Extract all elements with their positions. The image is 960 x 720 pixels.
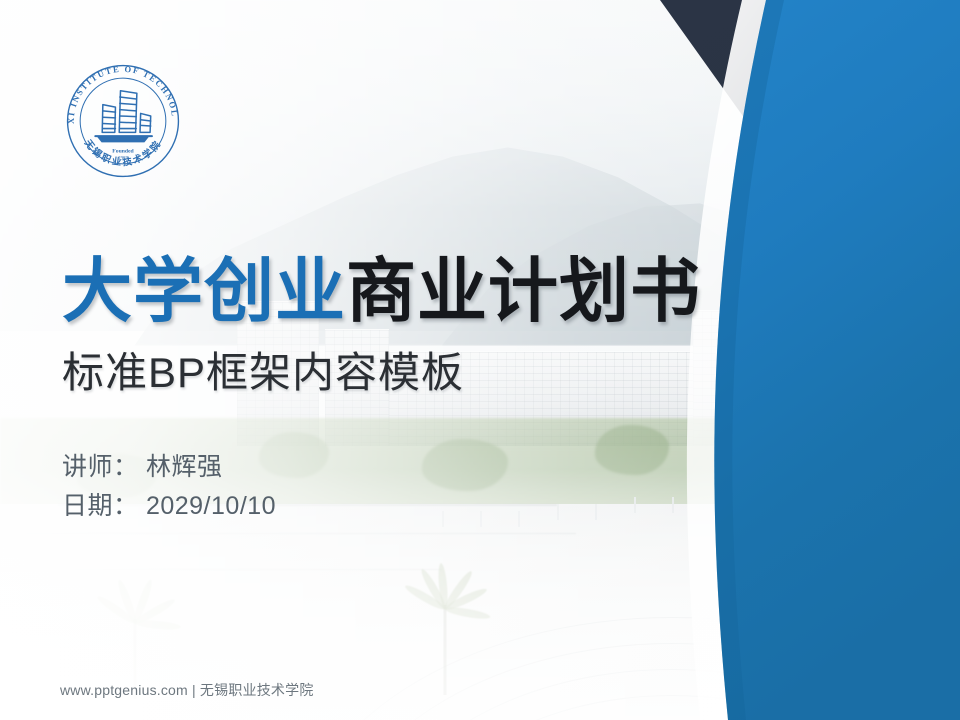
slide-subtitle: 标准BP框架内容模板 bbox=[62, 352, 464, 394]
presentation-slide: WUXI INSTITUTE OF TECHNOLOGY 无锡职业技术学院 bbox=[0, 0, 960, 720]
university-logo: WUXI INSTITUTE OF TECHNOLOGY 无锡职业技术学院 bbox=[60, 58, 186, 184]
slide-meta: 讲师： 林辉强 日期： 2029/10/10 bbox=[62, 448, 276, 526]
slide-title: 大学创业商业计划书 bbox=[62, 256, 701, 326]
slide-title-dark: 商业计划书 bbox=[346, 252, 701, 330]
logo-founded-year: 1959 bbox=[118, 155, 129, 161]
date-line: 日期： 2029/10/10 bbox=[62, 487, 276, 526]
slide-footer: www.pptgenius.com | 无锡职业技术学院 bbox=[60, 680, 314, 700]
logo-seal-icon: WUXI INSTITUTE OF TECHNOLOGY 无锡职业技术学院 bbox=[60, 58, 186, 184]
sailing-ship-icon bbox=[95, 91, 152, 143]
presenter-line: 讲师： 林辉强 bbox=[62, 448, 276, 487]
slide-title-blue: 大学创业 bbox=[62, 252, 346, 330]
logo-founded-label: Founded bbox=[112, 149, 134, 155]
